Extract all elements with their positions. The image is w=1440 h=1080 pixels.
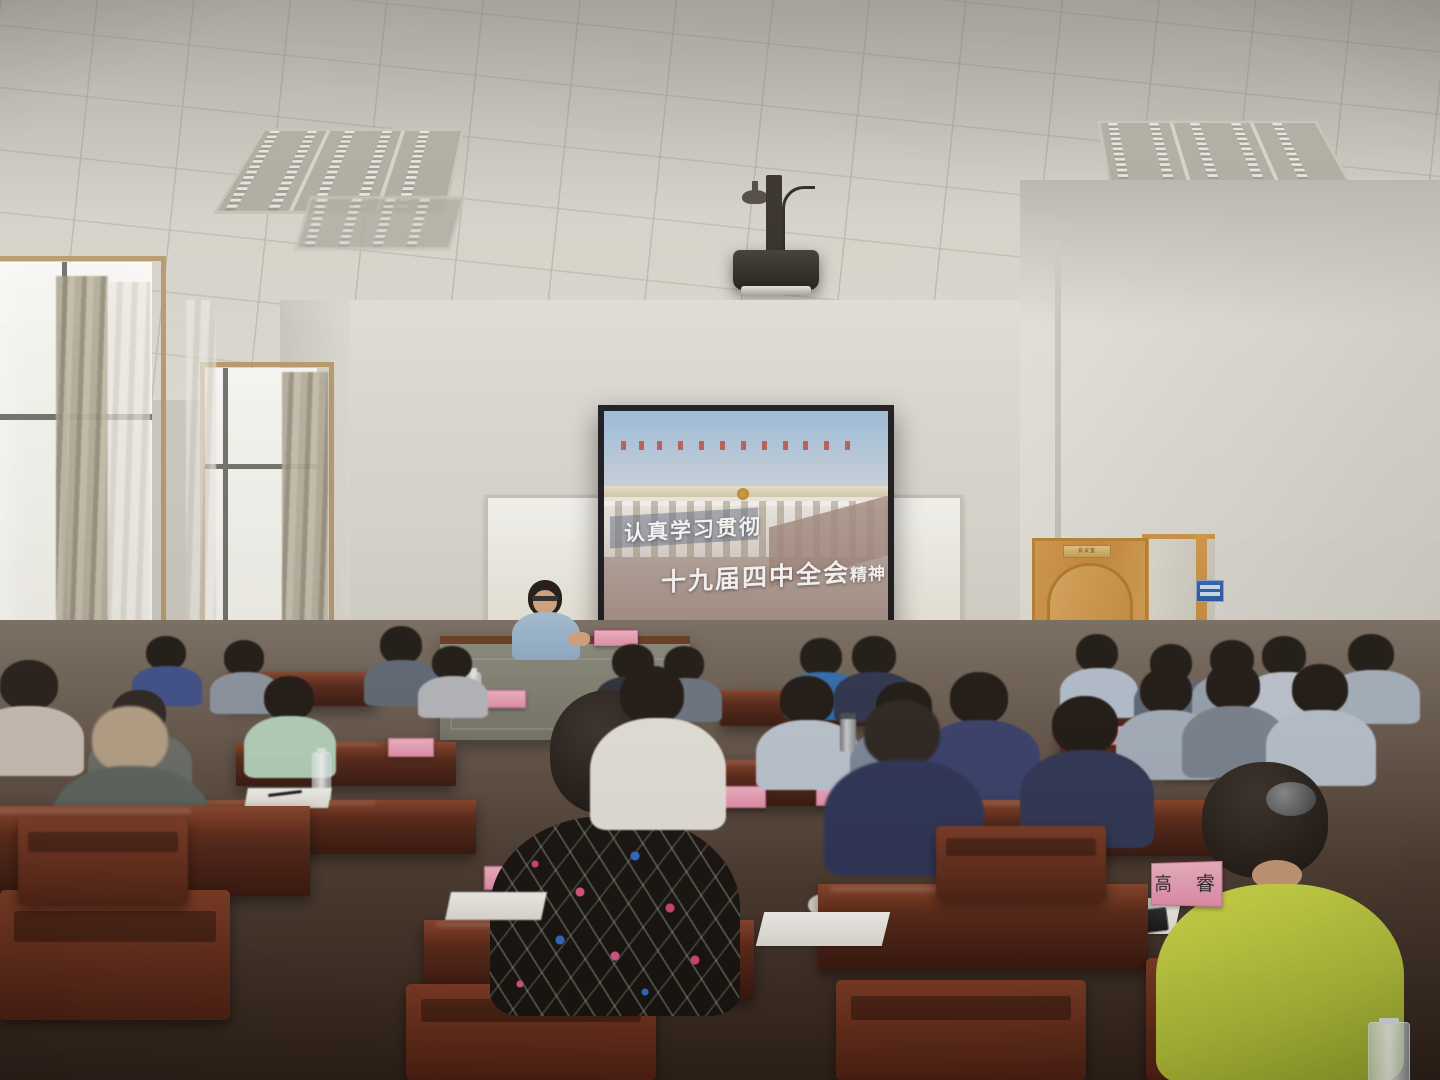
chair-mid-right[interactable] bbox=[936, 826, 1106, 900]
yellow-attendee-top bbox=[1156, 884, 1404, 1080]
projector-lens bbox=[741, 286, 811, 295]
thermos-row3 bbox=[840, 718, 856, 752]
projector-mount-pole bbox=[766, 175, 782, 255]
chair-foreground-left[interactable] bbox=[0, 890, 230, 1020]
projection-screen-content: 认真学习贯彻 十九届四中全会精神 bbox=[604, 411, 888, 626]
door-plaque: 会议室 bbox=[1063, 545, 1111, 558]
speaker-glasses bbox=[532, 596, 558, 601]
projector-cable bbox=[782, 186, 815, 251]
speaker-face bbox=[533, 590, 557, 614]
podium-name-card-2 bbox=[484, 690, 526, 708]
slide-title-line2-suffix: 精神 bbox=[850, 564, 886, 586]
projection-screen: 认真学习贯彻 十九届四中全会精神 bbox=[598, 405, 894, 632]
speaker-hand bbox=[568, 632, 590, 646]
wall-notice-sign bbox=[1196, 580, 1224, 602]
conference-room-photo: 认真学习贯彻 十九届四中全会精神 会议室 bbox=[0, 0, 1440, 1080]
name-card-row3-a bbox=[388, 738, 434, 757]
chair-foreground-right[interactable] bbox=[836, 980, 1086, 1080]
ceiling-grille-light-far bbox=[294, 196, 465, 250]
name-card-foreground-right[interactable]: 高 睿 bbox=[1151, 861, 1222, 907]
chair-mid-left[interactable] bbox=[18, 818, 188, 904]
paper-foreground-left bbox=[445, 892, 547, 920]
ceiling-smoke-detector bbox=[742, 190, 768, 204]
paper-foreground-center bbox=[756, 912, 890, 946]
water-bottle-foreground-right bbox=[1368, 1022, 1410, 1080]
projector bbox=[733, 250, 819, 290]
hair-clip bbox=[1266, 782, 1316, 816]
slide-flags bbox=[615, 441, 876, 475]
